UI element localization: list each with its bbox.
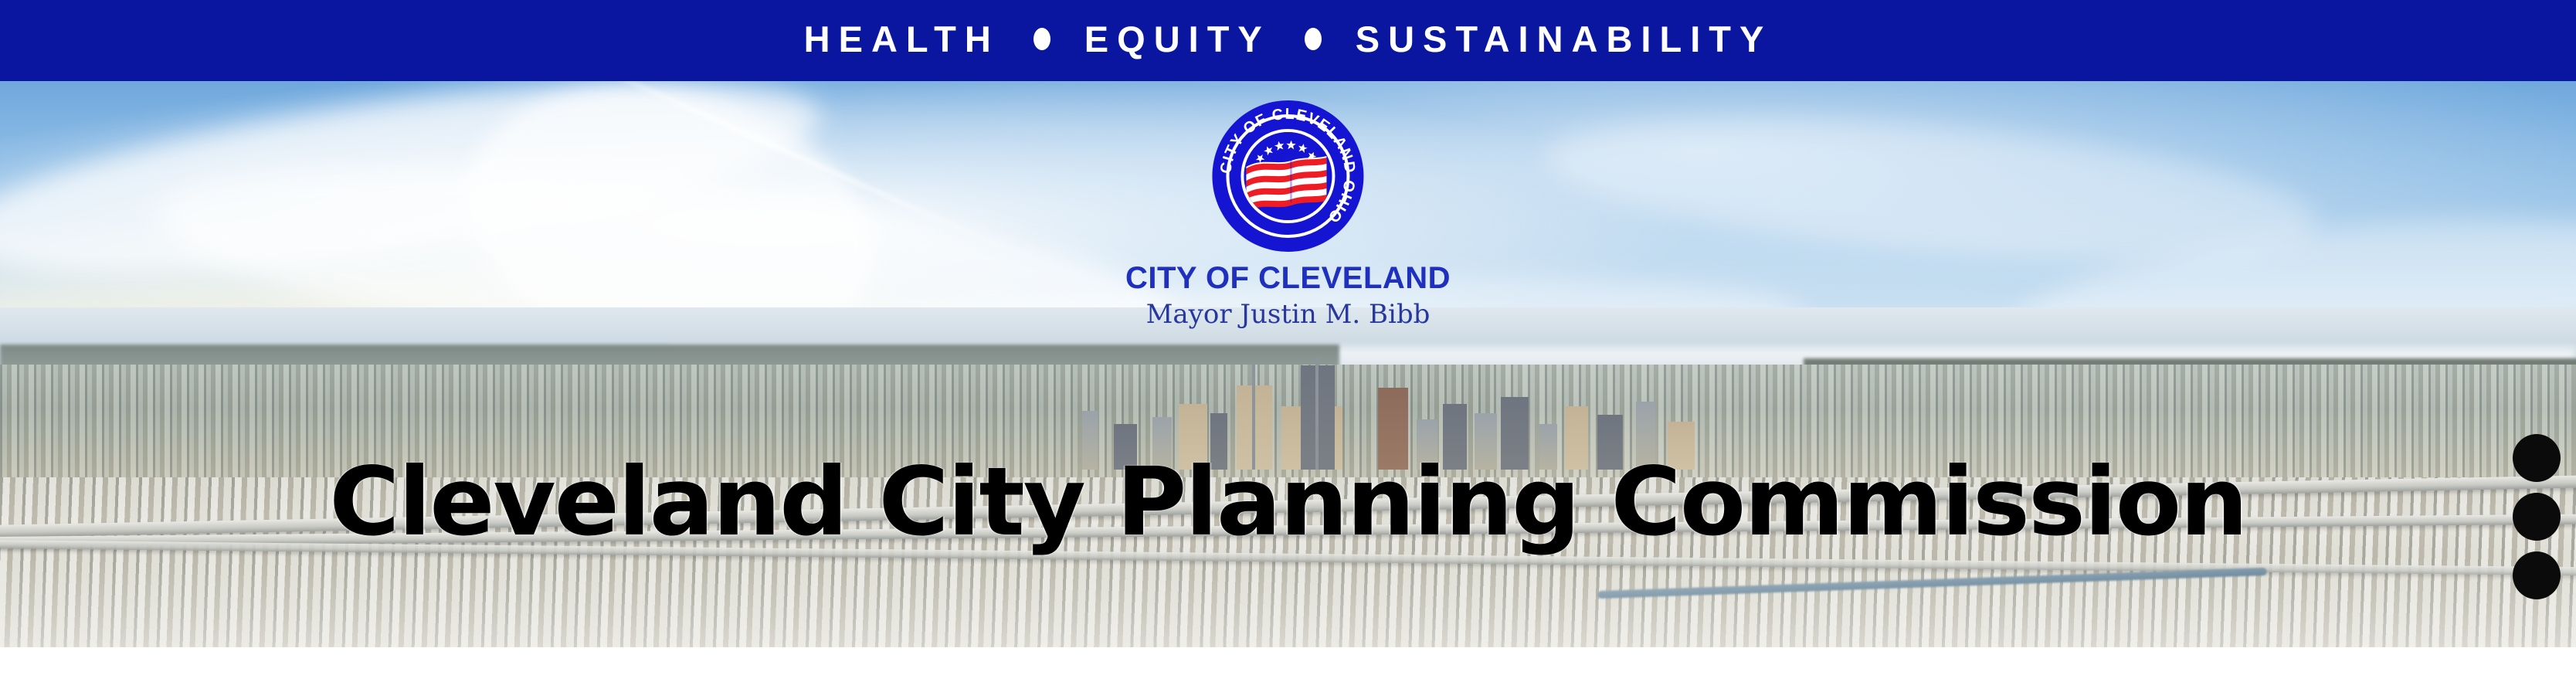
banner-word-equity: EQUITY — [1084, 18, 1271, 60]
page-title: Cleveland City Planning Commission — [0, 453, 2576, 551]
instagram-icon[interactable] — [2513, 493, 2561, 541]
social-links — [2513, 434, 2561, 599]
banner-bullet-icon — [1033, 28, 1050, 50]
banner-bullet-icon — [1305, 28, 1322, 50]
brand-subtitle-mayor: Mayor Justin M. Bibb — [1146, 299, 1431, 330]
facebook-icon[interactable] — [2513, 551, 2561, 599]
city-of-cleveland-seal-icon: CITY OF CLEVELAND OHIO — [1211, 99, 1366, 253]
bottom-white-strip — [0, 647, 2576, 682]
banner-word-health: HEALTH — [804, 18, 1000, 60]
top-banner: HEALTH EQUITY SUSTAINABILITY — [0, 0, 2576, 81]
brand-block: CITY OF CLEVELAND OHIO — [1125, 99, 1451, 330]
snow-field — [0, 557, 2576, 647]
brand-name: CITY OF CLEVELAND — [1125, 261, 1451, 296]
banner-word-sustainability: SUSTAINABILITY — [1356, 18, 1773, 60]
youtube-icon[interactable] — [2513, 434, 2561, 482]
page-root: HEALTH EQUITY SUSTAINABILITY — [0, 0, 2576, 682]
banner-text-group: HEALTH EQUITY SUSTAINABILITY — [804, 18, 1773, 60]
